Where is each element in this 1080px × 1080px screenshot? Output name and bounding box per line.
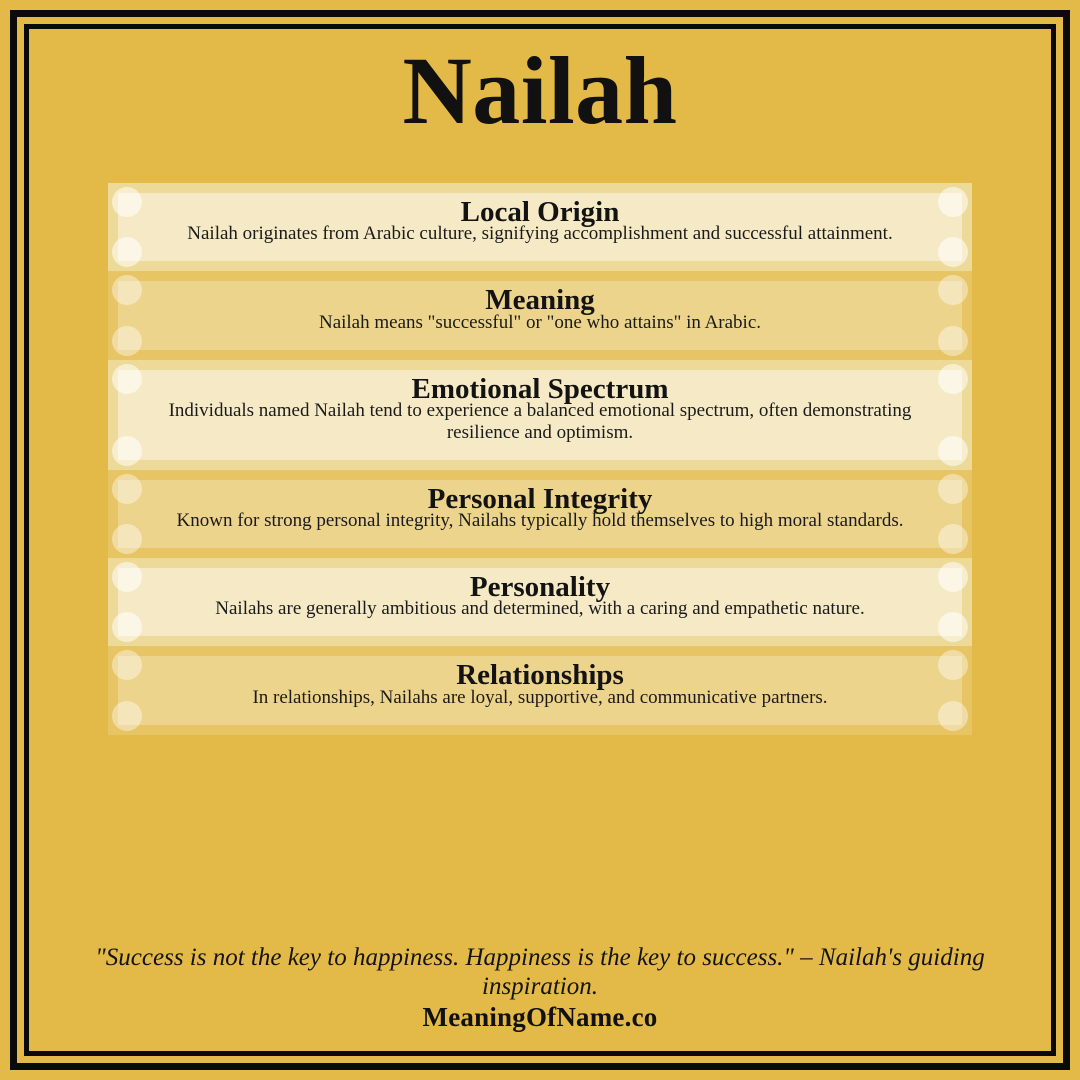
- card-body: Nailahs are generally ambitious and dete…: [130, 598, 950, 620]
- footer: "Success is not the key to happiness. Ha…: [40, 944, 1040, 1033]
- info-card-meaning: Meaning Nailah means "successful" or "on…: [108, 271, 972, 359]
- poster-root: Nailah Local Origin Nailah originates fr…: [0, 0, 1080, 1080]
- info-card-personality: Personality Nailahs are generally ambiti…: [108, 558, 972, 646]
- inspirational-quote: "Success is not the key to happiness. Ha…: [40, 944, 1040, 1001]
- card-body: Nailah means "successful" or "one who at…: [130, 312, 950, 334]
- info-card-emotional-spectrum: Emotional Spectrum Individuals named Nai…: [108, 360, 972, 470]
- info-card-relationships: Relationships In relationships, Nailahs …: [108, 646, 972, 734]
- brand-name: MeaningOfName.co: [40, 1002, 1040, 1033]
- page-title: Nailah: [402, 43, 677, 139]
- card-body: Known for strong personal integrity, Nai…: [130, 510, 950, 532]
- card-body: Nailah originates from Arabic culture, s…: [130, 223, 950, 245]
- info-card-personal-integrity: Personal Integrity Known for strong pers…: [108, 470, 972, 558]
- poster-content: Nailah Local Origin Nailah originates fr…: [29, 29, 1051, 1051]
- info-card-local-origin: Local Origin Nailah originates from Arab…: [108, 183, 972, 271]
- card-body: In relationships, Nailahs are loyal, sup…: [130, 687, 950, 709]
- card-body: Individuals named Nailah tend to experie…: [130, 400, 950, 444]
- info-card-list: Local Origin Nailah originates from Arab…: [108, 183, 972, 735]
